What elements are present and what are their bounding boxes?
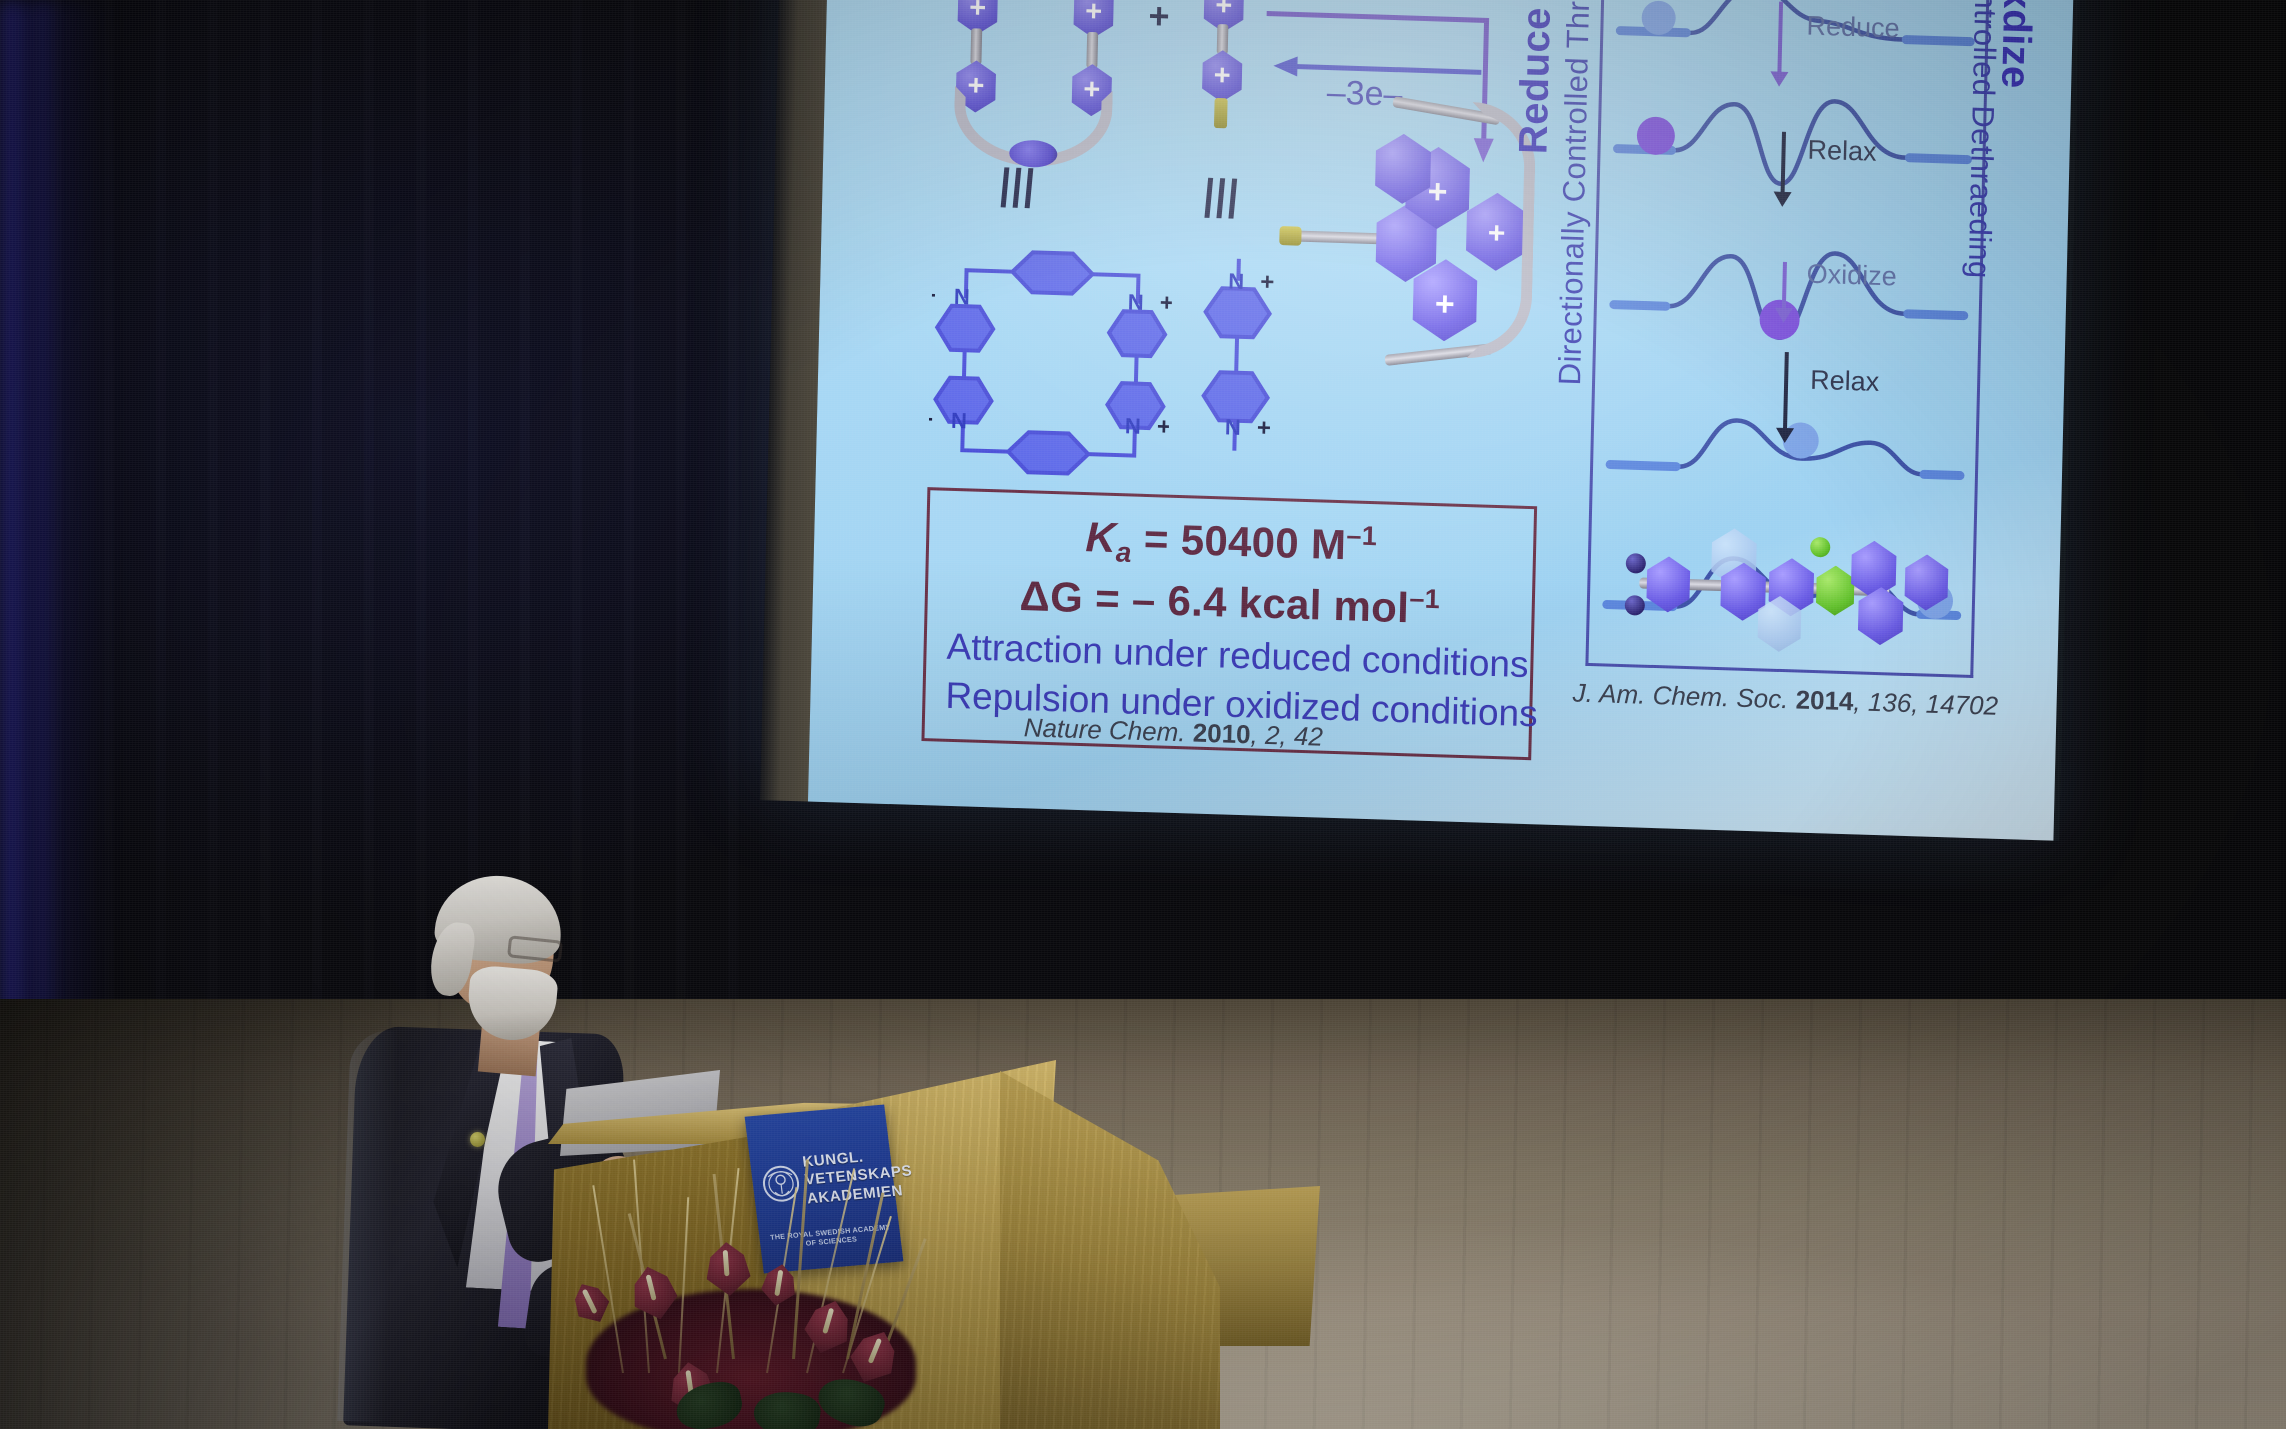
projection-screen: + + + + + + + (760, 0, 2086, 841)
ka-value: = 50400 M (1143, 515, 1346, 568)
svg-text:+: + (1157, 413, 1172, 440)
curtain-light-stripe (40, 0, 54, 1150)
curtain-light-stripe (6, 0, 20, 1150)
step-label-relax-2: Relax (1810, 365, 1880, 398)
ka-subscript: a (1115, 536, 1132, 567)
svg-text:+: + (1260, 268, 1275, 295)
flower-spadix (646, 1274, 657, 1300)
lectern-side-wedge (1000, 1056, 1220, 1429)
bond (1086, 32, 1098, 68)
flower-spadix (582, 1289, 598, 1315)
svg-text:+: + (928, 282, 937, 309)
reduce-vertical-label: Reduce (1511, 6, 1559, 154)
svg-text:+: + (1160, 289, 1174, 316)
svg-text:N: N (1228, 268, 1244, 293)
citation-page: 42 (1294, 721, 1324, 752)
presentation-slide: + + + + + + + (808, 0, 2080, 841)
aromatic-hex (1901, 554, 1952, 612)
stopper-atom (1810, 537, 1830, 558)
svg-text:N: N (954, 284, 970, 309)
charge-plus: + (1200, 0, 1247, 21)
citation-page: 14702 (1925, 689, 1998, 721)
lapel-pin-icon (470, 1132, 485, 1147)
citation-year: 2010 (1192, 718, 1251, 750)
bond (970, 28, 982, 64)
ka-symbol: K (1085, 513, 1117, 561)
flower-spadix (822, 1308, 834, 1334)
journal-name: J. Am. Chem. Soc. (1572, 677, 1788, 714)
equilibrium-marks (1002, 167, 1039, 208)
thread-stopper (1279, 226, 1301, 246)
step-label-reduce: Reduce (1806, 11, 1900, 45)
citation-year: 2014 (1795, 684, 1854, 716)
stopper-group (1813, 565, 1858, 616)
flower-spadix (723, 1250, 730, 1276)
citation-volume: 2 (1265, 720, 1280, 750)
dg-exponent: –1 (1409, 584, 1440, 615)
svg-text:N: N (951, 408, 967, 433)
rotaxane-3d-model: + + + (1310, 127, 1546, 404)
terminal-atom (1625, 595, 1645, 616)
equilibrium-marks (1206, 178, 1243, 219)
dg-value: = – 6.4 kcal mol (1095, 575, 1410, 632)
bond (1217, 24, 1229, 54)
citation-jacs: J. Am. Chem. Soc. 2014, 136, 14702 (1572, 677, 1998, 721)
svg-text:N: N (1225, 414, 1241, 439)
step-label-relax-1: Relax (1807, 135, 1877, 168)
threading-vertical-label: Directionally Controlled Thraeding (1552, 0, 1599, 386)
svg-text:N: N (1125, 413, 1141, 438)
viologen-structure: NN ++ (1176, 253, 1301, 487)
dg-symbol: ΔG (1019, 572, 1084, 621)
aromatic-hex (1643, 556, 1694, 614)
electron-label: –3e– (1326, 73, 1403, 114)
flower-arrangement (556, 1148, 976, 1429)
ka-exponent: –1 (1346, 520, 1377, 551)
flower-spadix (868, 1338, 882, 1364)
cbpqt-structure: NN NN ++ ++ (928, 231, 1174, 488)
charge-plus: + (1070, 0, 1117, 27)
dethreading-vertical-label: Directionally Controlled Dethraeding (1961, 0, 2009, 279)
plus-operator: + (1148, 0, 1170, 34)
journal-name: Nature Chem. (1023, 712, 1185, 747)
terminal-atom (1626, 553, 1646, 574)
charge-plus: + (1199, 61, 1246, 91)
svg-text:+: + (1257, 414, 1272, 441)
wood-grain (1000, 1056, 1220, 1429)
step-label-oxidize: Oxidize (1806, 259, 1897, 293)
charge-plus: + (954, 0, 1001, 24)
citation-volume: 136 (1868, 687, 1912, 718)
flower-spadix (774, 1270, 783, 1296)
thread-stopper (1214, 98, 1228, 128)
photograph-canvas: + + + + + + + (0, 0, 2286, 1429)
thread-viologen-unit: + (1199, 49, 1246, 102)
rotaxane-model-bottom (1624, 523, 1977, 654)
svg-text:+: + (928, 406, 934, 433)
svg-text:N: N (1128, 289, 1144, 314)
